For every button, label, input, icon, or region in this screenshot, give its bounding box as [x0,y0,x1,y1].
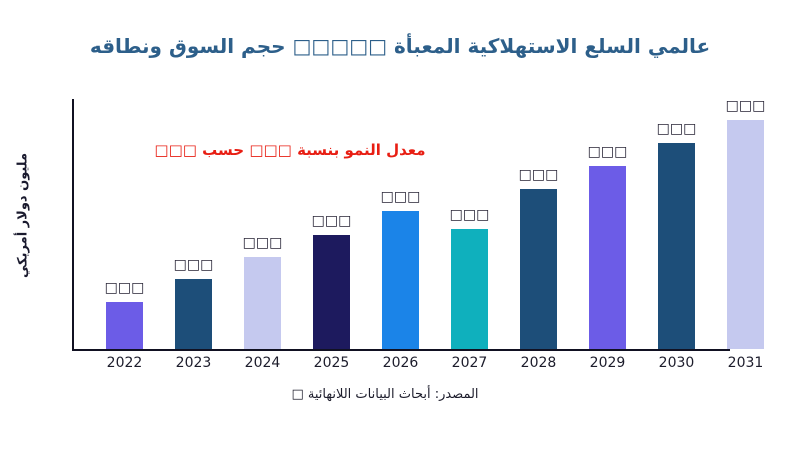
x-tick-label-2022: 2022 [90,355,159,371]
plot-area: □□□□□□□□□□□□□□□□□□□□□□□□□□□□□□ [72,99,800,351]
bar[interactable] [106,302,143,349]
bar[interactable] [313,235,350,349]
x-axis-tick-labels: 2022202320242025202620272028202920302031 [72,355,800,381]
bar-value-label: □□□ [297,213,366,229]
bar-value-label: □□□ [711,98,780,114]
bar[interactable] [175,279,212,349]
bar-group: □□□ [711,99,780,349]
bars-layer: □□□□□□□□□□□□□□□□□□□□□□□□□□□□□□ [72,99,800,349]
bar-group: □□□ [366,99,435,349]
bar[interactable] [451,229,488,349]
bar-group: □□□ [435,99,504,349]
bar-chart: عالمي السلع الاستهلاكية المعبأة □□□□□ حج… [0,0,800,450]
x-tick-label-2025: 2025 [297,355,366,371]
bar-group: □□□ [90,99,159,349]
bar-value-label: □□□ [228,235,297,251]
bar-group: □□□ [642,99,711,349]
bar-value-label: □□□ [435,207,504,223]
bar[interactable] [658,143,695,349]
bar[interactable] [727,120,764,349]
bar-group: □□□ [504,99,573,349]
x-tick-label-2031: 2031 [711,355,780,371]
x-tick-label-2027: 2027 [435,355,504,371]
bar-group: □□□ [228,99,297,349]
bar-value-label: □□□ [366,189,435,205]
bar-value-label: □□□ [90,280,159,296]
bar-group: □□□ [297,99,366,349]
x-tick-label-2026: 2026 [366,355,435,371]
bar[interactable] [382,211,419,349]
bar[interactable] [520,189,557,349]
x-tick-label-2023: 2023 [159,355,228,371]
bar-value-label: □□□ [504,167,573,183]
bar-value-label: □□□ [159,257,228,273]
x-tick-label-2029: 2029 [573,355,642,371]
y-axis-title: مليون دولار أمريكي [16,126,31,306]
bar-value-label: □□□ [573,144,642,160]
bar[interactable] [244,257,281,349]
x-tick-label-2024: 2024 [228,355,297,371]
x-tick-label-2028: 2028 [504,355,573,371]
x-axis-line [72,349,730,351]
source-note: المصدر: أبحاث البيانات اللانهائية □ [0,387,770,402]
x-tick-label-2030: 2030 [642,355,711,371]
bar-group: □□□ [573,99,642,349]
chart-title: عالمي السلع الاستهلاكية المعبأة □□□□□ حج… [0,34,800,58]
growth-rate-annotation: معدل النمو بنسبة □□□ حسب □□□ [140,141,440,159]
bar-group: □□□ [159,99,228,349]
bar[interactable] [589,166,626,349]
bar-value-label: □□□ [642,121,711,137]
